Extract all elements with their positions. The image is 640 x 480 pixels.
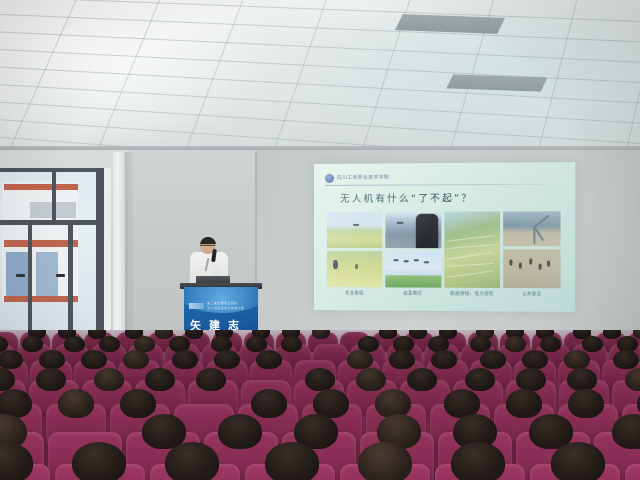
university-name: 四川工商职业技术学院 — [337, 175, 389, 181]
building-red-band — [4, 240, 78, 247]
person-figure — [539, 264, 542, 270]
ceiling — [0, 0, 640, 152]
person-figure — [547, 261, 550, 267]
drone-icon — [403, 260, 408, 262]
farmland-drone-photo — [327, 212, 382, 248]
drone-icon — [396, 222, 403, 224]
terrace-contour — [446, 270, 493, 277]
person-figure — [519, 263, 522, 269]
ground-strip — [385, 275, 441, 287]
window-mullion — [96, 168, 104, 340]
slide-caption-row: 农业植保 应急救灾 航拍测绘、电力巡检 公共安全 — [327, 290, 561, 301]
person-figure — [510, 260, 513, 266]
turbine-blade — [534, 215, 550, 228]
slide-header: 四川工商职业技术学院 — [325, 170, 561, 184]
drone-fleet-photo — [385, 251, 441, 288]
photo-column-1 — [327, 212, 382, 288]
left-window — [0, 168, 111, 340]
window-handle-icon[interactable] — [16, 274, 25, 277]
terrace-contour — [446, 263, 493, 267]
terrace-contour — [446, 252, 493, 260]
window-mullion — [28, 225, 32, 340]
drone-icon — [393, 259, 398, 261]
slide-title: 无人机有什么“了不起”？ — [340, 190, 555, 205]
drone-icon — [414, 259, 419, 261]
photo-caption: 应急救灾 — [385, 290, 441, 299]
audience-area — [0, 330, 640, 480]
slide-photo-grid — [327, 211, 561, 288]
slide-header-divider — [325, 184, 546, 186]
terrace-contour — [446, 244, 493, 249]
person-figure — [333, 260, 338, 269]
building-window-glass — [36, 252, 58, 298]
aerial-terrace-photo — [444, 212, 500, 288]
photo-column-2 — [385, 212, 441, 288]
podium-event-line-1: 第三届全国职业院校 — [207, 301, 254, 305]
drone-icon — [353, 224, 359, 226]
auditorium-photo: 四川工商职业技术学院 无人机有什么“了不起”？ — [0, 0, 640, 480]
event-logo-icon — [189, 303, 204, 309]
turbine-tower — [534, 226, 536, 244]
projection-screen: 四川工商职业技术学院 无人机有什么“了不起”？ — [314, 162, 575, 312]
terrace-contour — [446, 235, 493, 242]
person-figure — [355, 264, 358, 269]
university-logo-icon — [325, 173, 334, 182]
building-red-band — [4, 296, 78, 302]
window-mullion — [68, 225, 73, 340]
window-handle-icon[interactable] — [56, 274, 65, 277]
drone-icon — [424, 261, 429, 263]
field-worker-photo — [327, 251, 382, 287]
window-mullion — [52, 168, 56, 220]
photo-caption: 农业植保 — [327, 290, 382, 299]
photo-column-3 — [444, 212, 500, 288]
pilot-silhouette — [416, 214, 438, 248]
podium-event-line-2: 无人机应用技术技能大赛 — [207, 306, 254, 310]
window-mullion — [0, 220, 104, 225]
photo-column-4 — [503, 211, 560, 288]
drone-pilot-photo — [385, 212, 441, 248]
wall-column — [113, 152, 125, 350]
column-shadow — [125, 152, 134, 350]
person-figure — [529, 259, 532, 265]
wind-turbine-photo — [503, 211, 560, 246]
crowd-photo — [503, 250, 560, 289]
building-red-roof — [4, 184, 78, 190]
photo-caption: 航拍测绘、电力巡检 — [444, 291, 500, 300]
photo-caption: 公共安全 — [503, 291, 560, 301]
